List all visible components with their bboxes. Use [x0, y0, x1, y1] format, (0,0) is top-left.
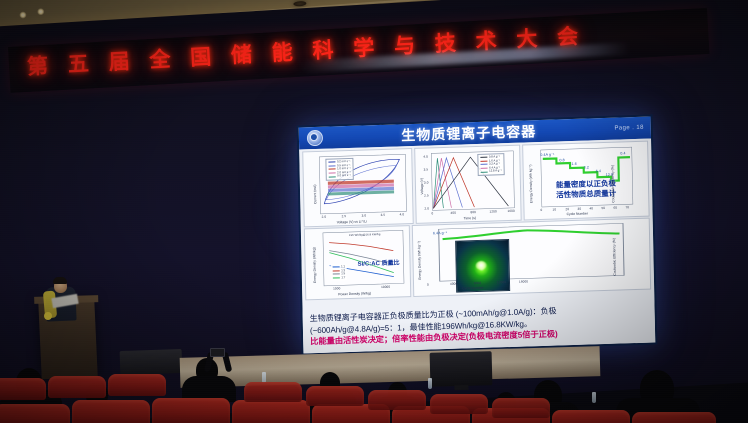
slide-page-number: Page . 18 — [614, 125, 643, 132]
y-axis-label: Energy Density (Wh kg⁻¹) — [529, 164, 534, 203]
x-tick: 1000 — [333, 286, 340, 290]
seat — [552, 410, 630, 423]
cycling-annotation: 6.4A g⁻¹ — [433, 231, 447, 235]
seat — [306, 386, 364, 406]
chart-charge-discharge: 0.8 A g⁻¹ 1.6 A g⁻¹ 3.2 A g⁻¹ 6.4 A g⁻¹ … — [414, 145, 522, 224]
y-tick: 3.0 — [424, 181, 429, 185]
y-axis-label: Energy Density (Wh/kg) — [312, 247, 317, 283]
seat — [72, 400, 150, 423]
x-tick: 50 — [601, 206, 605, 210]
seat — [108, 374, 166, 396]
chart-cv-curves: 0.2 mV s⁻¹ 0.5 mV s⁻¹ 1.0 mV s⁻¹ 2.0 mV … — [302, 148, 414, 227]
cv-legend: 0.2 mV s⁻¹ 0.5 mV s⁻¹ 1.0 mV s⁻¹ 2.0 mV … — [325, 158, 353, 181]
ceiling-light-spot — [37, 8, 44, 15]
legend-item: 5.0 mV s⁻¹ — [329, 174, 351, 178]
legend-item: 12.8 A g⁻¹ — [481, 170, 502, 174]
y-axis-label: Current (mA) — [313, 184, 317, 204]
x-tick: 4000 — [450, 282, 457, 286]
seat — [0, 378, 46, 400]
chart-rate-capability: 0.4A g⁻¹ 0.8 1.6 3.2 6.4 12.8 0.4 能量密度以正… — [522, 141, 650, 221]
slide-text-block: 生物质锂离子电容器正负极质量比为正极 (~100mAh/g@1.0A/g)：负极… — [303, 300, 656, 353]
stage-monitor — [120, 349, 183, 375]
y-tick: 2.0 — [424, 206, 429, 210]
green-led-photo-inset — [455, 239, 510, 293]
seat — [368, 390, 426, 410]
y-axis-label: Energy Density (Wh kg⁻¹) — [417, 241, 422, 280]
ragone-legend: 1:1 1:3 1:5 1:7 — [331, 264, 348, 281]
x-tick: 40 — [589, 206, 593, 210]
x-tick: 20 — [565, 207, 569, 211]
y-tick: 2.5 — [424, 193, 429, 197]
ceiling-light-spot — [19, 11, 26, 18]
x-tick: 1200 — [489, 209, 496, 213]
seat — [152, 398, 230, 423]
legend-item: 1:7 — [333, 276, 345, 280]
x-tick: 0 — [540, 208, 542, 212]
rate-annotation: 1.6 — [571, 162, 576, 166]
water-bottle — [428, 378, 432, 389]
x-tick: 2.5 — [342, 214, 347, 218]
x-tick: 3.0 — [362, 213, 367, 217]
x-tick: 10 — [552, 208, 556, 212]
rate-annotation: 6.4 — [596, 169, 601, 173]
seat — [0, 404, 70, 423]
rate-annotation: 0.4A g⁻¹ — [540, 153, 554, 157]
projection-screen: 生物质锂离子电容器 Page . 18 — [297, 114, 658, 355]
rate-annotation: 0.8 — [559, 158, 564, 162]
x-axis-label: Cycle Number — [462, 286, 484, 291]
x-axis-label: Cycle Number — [567, 212, 589, 217]
speaker-badge — [44, 312, 52, 320]
x-tick: 800 — [470, 210, 476, 214]
y-axis-label: Voltage (V) — [420, 178, 424, 195]
rate-annotation: 3.2 — [584, 165, 589, 169]
rate-overlay-note: 能量密度以正负极 活性物质总质量计 — [540, 178, 632, 201]
chart-long-cycling: 6.4A g⁻¹ 0 4000 8000 12000 16000 Cycle N… — [412, 218, 651, 297]
smartphone-icon — [210, 348, 225, 357]
ragone-legend-title: Si/C:AC 质量比 — [358, 259, 400, 268]
audience-monitor — [430, 351, 493, 387]
x-axis-label: Time (s) — [464, 216, 476, 220]
charge-discharge-legend: 0.8 A g⁻¹ 1.6 A g⁻¹ 3.2 A g⁻¹ 6.4 A g⁻¹ … — [477, 153, 504, 176]
seat — [430, 394, 488, 414]
rate-annotation: 0.4 — [620, 151, 625, 155]
x-tick: 1600 — [507, 209, 514, 213]
x-tick: 400 — [450, 211, 456, 215]
downlight-icon — [293, 1, 306, 7]
chart-row-bottom: 196 Wh/kg@16.8 KW/kg 1:1 1:3 1:5 1:7 Si/… — [304, 218, 651, 301]
seat — [232, 400, 310, 423]
water-bottle — [592, 392, 596, 403]
seat — [48, 376, 106, 398]
x-tick: 0 — [431, 211, 433, 215]
seat — [244, 382, 302, 402]
x-tick: 60 — [613, 206, 617, 210]
chart-row-top: 0.2 mV s⁻¹ 0.5 mV s⁻¹ 1.0 mV s⁻¹ 2.0 mV … — [302, 141, 649, 228]
seat — [632, 412, 716, 423]
x-tick: 2.0 — [322, 215, 327, 219]
x-tick: 8000 — [474, 281, 481, 285]
x-tick: 4.0 — [400, 212, 405, 216]
x-tick: 12000 — [497, 280, 506, 284]
university-seal-icon — [307, 130, 323, 146]
cv-curves-svg — [303, 149, 413, 227]
x-tick: 70 — [625, 205, 629, 209]
x-tick: 0 — [427, 283, 429, 287]
slide: 生物质锂离子电容器 Page . 18 — [299, 116, 656, 353]
auditorium-photo: 第 五 届 全 国 储 能 科 学 与 技 术 大 会 生物质锂离子电容器 Pa… — [0, 0, 748, 423]
x-tick: 16000 — [519, 279, 528, 283]
slide-body: 0.2 mV s⁻¹ 0.5 mV s⁻¹ 1.0 mV s⁻¹ 2.0 mV … — [299, 138, 655, 353]
x-tick: 10000 — [381, 285, 390, 289]
x-tick: 30 — [577, 207, 581, 211]
speaker-hair — [53, 277, 67, 284]
x-tick: 3.5 — [381, 213, 386, 217]
y-tick: 3.5 — [424, 168, 429, 172]
y-tick: 4.0 — [423, 155, 428, 159]
chart-ragone: 196 Wh/kg@16.8 KW/kg 1:1 1:3 1:5 1:7 Si/… — [304, 225, 411, 300]
seat — [492, 398, 550, 418]
